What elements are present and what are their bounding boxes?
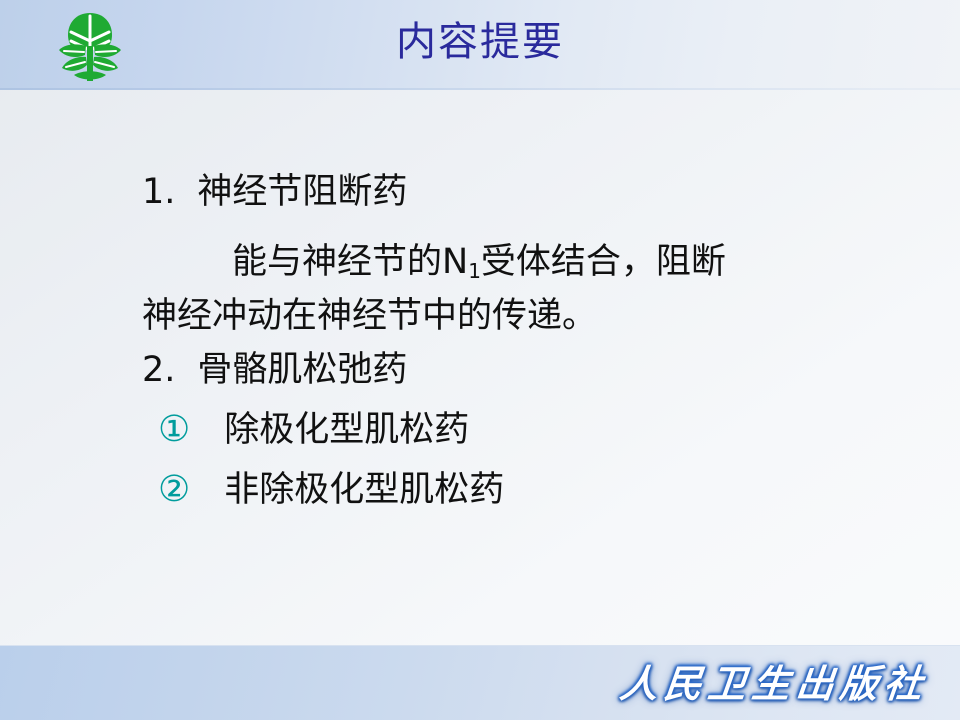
list-item-1: 1.神经节阻断药 — [142, 170, 407, 214]
list-item-1-number: 1. — [142, 170, 175, 214]
slide-header-band: 内容提要 — [0, 0, 960, 90]
publisher-logo-text: 人民卫生出版社 — [617, 660, 930, 708]
sub-item-1-label: 除极化型肌松药 — [224, 410, 469, 450]
sub-item-2-label: 非除极化型肌松药 — [224, 470, 504, 510]
receptor-subscript: 1 — [468, 259, 481, 283]
description-text-after-subscript: 受体结合，阻断 — [481, 242, 726, 282]
list-item-1-description-line-1: 能与神经节的N1受体结合，阻断 — [142, 240, 726, 288]
slide-content: 1.神经节阻断药 能与神经节的N1受体结合，阻断 神经冲动在神经节中的传递。 2… — [0, 90, 960, 645]
list-item-2-label: 骨骼肌松弛药 — [197, 350, 407, 390]
list-item-2-number: 2. — [142, 348, 175, 392]
presentation-slide: 内容提要 1.神经节阻断药 能与神经节的N1受体结合，阻断 神经冲动在神经节中的… — [0, 0, 960, 720]
circled-number-2-marker: ② — [158, 468, 190, 512]
sub-item-1: ①除极化型肌松药 — [158, 408, 469, 452]
description-text: 神经冲动在神经节中的传递。 — [142, 296, 597, 336]
list-item-1-label: 神经节阻断药 — [197, 172, 407, 212]
circled-number-1-marker: ① — [158, 408, 190, 452]
list-item-2: 2.骨骼肌松弛药 — [142, 348, 407, 392]
slide-footer-band: 人民卫生出版社 — [0, 645, 960, 720]
list-item-1-description-line-2: 神经冲动在神经节中的传递。 — [142, 294, 597, 338]
slide-title: 内容提要 — [0, 14, 960, 70]
description-text-before-subscript: 能与神经节的N — [232, 242, 468, 282]
sub-item-2: ②非除极化型肌松药 — [158, 468, 504, 512]
